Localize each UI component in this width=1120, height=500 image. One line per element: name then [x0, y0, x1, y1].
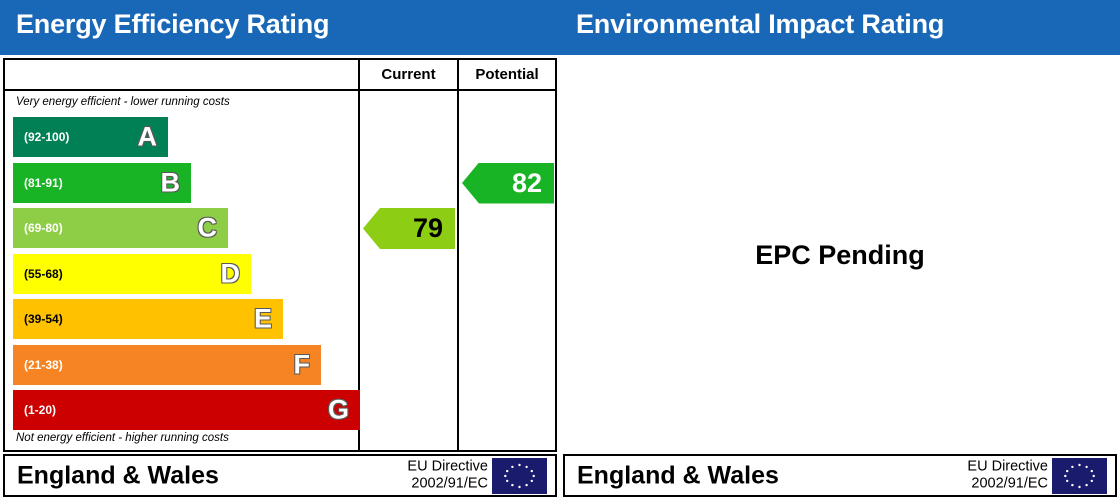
- rating-value-current: 79: [413, 215, 443, 242]
- energy-efficiency-title-bar: Energy Efficiency Rating: [0, 0, 560, 55]
- environmental-impact-title-bar: Environmental Impact Rating: [560, 0, 1120, 55]
- energy-efficiency-table: Current Potential Very energy efficient …: [3, 58, 557, 452]
- energy-efficiency-panel: Energy Efficiency Rating Current Potenti…: [0, 0, 560, 500]
- band-letter-label: G: [328, 397, 349, 424]
- rating-arrow-potential: 82: [462, 163, 554, 204]
- caption-very-efficient: Very energy efficient - lower running co…: [16, 96, 230, 108]
- environmental-impact-footer: England & Wales EU Directive 2002/91/EC: [563, 454, 1117, 497]
- band-letter-label: D: [221, 260, 241, 287]
- rating-band-d: (55-68)D: [13, 254, 251, 294]
- header-cell-blank: [5, 60, 358, 89]
- energy-efficiency-footer: England & Wales EU Directive 2002/91/EC: [3, 454, 557, 497]
- footer-directive-label: EU Directive 2002/91/EC: [967, 458, 1048, 493]
- rating-band-b: (81-91)B: [13, 163, 191, 203]
- band-letter-label: E: [254, 306, 272, 333]
- band-range-label: (21-38): [24, 359, 63, 371]
- rating-value-potential: 82: [512, 170, 542, 197]
- band-letter-label: B: [161, 169, 181, 196]
- epc-pending-status: EPC Pending: [755, 240, 925, 271]
- band-letter-label: A: [138, 124, 158, 151]
- footer-directive-line2: 2002/91/EC: [407, 476, 488, 494]
- band-range-label: (55-68): [24, 268, 63, 280]
- rating-band-a: (92-100)A: [13, 117, 168, 157]
- band-range-label: (1-20): [24, 404, 56, 416]
- band-range-label: (69-80): [24, 222, 63, 234]
- table-header-row: Current Potential: [5, 60, 555, 91]
- epc-pending-area: EPC Pending: [560, 58, 1120, 452]
- environmental-impact-panel: Environmental Impact Rating EPC Pending …: [560, 0, 1120, 500]
- footer-directive-label: EU Directive 2002/91/EC: [407, 458, 488, 493]
- footer-region-label: England & Wales: [17, 461, 219, 490]
- header-cell-current: Current: [358, 60, 457, 89]
- rating-bands-area: Very energy efficient - lower running co…: [5, 91, 358, 450]
- band-range-label: (39-54): [24, 313, 63, 325]
- footer-directive-line1: EU Directive: [967, 458, 1048, 476]
- footer-directive-line1: EU Directive: [407, 458, 488, 476]
- eu-flag-icon: [492, 458, 547, 494]
- band-letter-label: C: [198, 215, 218, 242]
- rating-band-e: (39-54)E: [13, 299, 283, 339]
- caption-not-efficient: Not energy efficient - higher running co…: [16, 432, 229, 444]
- rating-band-g: (1-20)G: [13, 390, 360, 430]
- energy-efficiency-title: Energy Efficiency Rating: [16, 9, 329, 40]
- rating-arrow-current: 79: [363, 208, 455, 249]
- rating-band-f: (21-38)F: [13, 345, 321, 385]
- band-range-label: (92-100): [24, 131, 69, 143]
- rating-band-c: (69-80)C: [13, 208, 228, 248]
- epc-chart-root: Energy Efficiency Rating Current Potenti…: [0, 0, 1120, 500]
- header-cell-potential: Potential: [457, 60, 555, 89]
- column-divider-potential: [457, 91, 459, 450]
- band-letter-label: F: [294, 351, 311, 378]
- footer-directive-line2: 2002/91/EC: [967, 476, 1048, 494]
- eu-flag-icon: [1052, 458, 1107, 494]
- band-range-label: (81-91): [24, 177, 63, 189]
- footer-region-label: England & Wales: [577, 461, 779, 490]
- environmental-impact-title: Environmental Impact Rating: [576, 9, 944, 40]
